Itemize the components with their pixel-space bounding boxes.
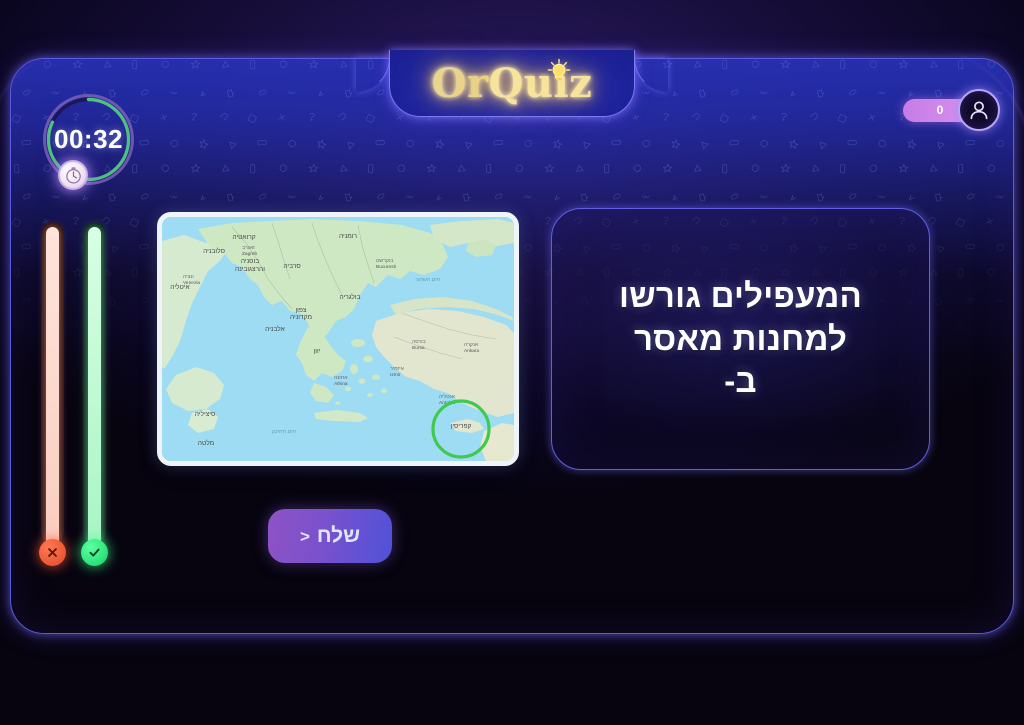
chevron-left-icon: < — [300, 528, 310, 545]
correct-answers-bar — [83, 222, 106, 566]
svg-text:ונציה: ונציה — [183, 274, 194, 280]
svg-text:זאגרב: זאגרב — [242, 245, 255, 251]
countdown-timer: 00:32 — [37, 88, 140, 191]
wrong-bar-fill — [46, 227, 59, 548]
lightbulb-icon — [546, 58, 572, 84]
selected-answer-label: קפריסין — [451, 423, 472, 430]
correct-bar-fill — [88, 227, 101, 548]
answer-progress-rail — [41, 222, 106, 566]
svg-text:סיציליה: סיציליה — [195, 410, 216, 418]
svg-text:מקדוניה: מקדוניה — [290, 314, 312, 321]
question-text: המעפילים גורשו למחנות מאסר ב- — [619, 275, 862, 404]
timer-value: 00:32 — [37, 88, 140, 191]
svg-text:והרצגובינה: והרצגובינה — [235, 266, 265, 273]
wrong-bar-track — [41, 222, 64, 543]
svg-text:בוסניה: בוסניה — [241, 258, 259, 265]
svg-text:Venezia: Venezia — [183, 280, 200, 286]
question-card: המעפילים גורשו למחנות מאסר ב- — [551, 208, 930, 470]
region-map[interactable]: סלובניה קרואטיה בוסניה והרצגובינה סרביה … — [162, 217, 514, 461]
x-mark-icon — [39, 539, 66, 566]
svg-text:הים התיכון: הים התיכון — [271, 429, 297, 435]
correct-bar-track — [83, 222, 106, 543]
question-line-3: ב- — [619, 360, 862, 403]
svg-text:יוון: יוון — [314, 348, 321, 355]
svg-text:איזמיר: איזמיר — [390, 366, 405, 372]
svg-text:Bucuresti: Bucuresti — [376, 264, 396, 270]
svg-text:Bursa: Bursa — [412, 345, 425, 351]
svg-text:Izmir: Izmir — [390, 372, 401, 378]
svg-text:אתונה: אתונה — [334, 375, 348, 381]
svg-text:Zagreb: Zagreb — [242, 251, 258, 257]
svg-text:Ankara: Ankara — [464, 348, 480, 354]
check-mark-icon — [81, 539, 108, 566]
question-line-2: למחנות מאסר — [619, 318, 862, 361]
svg-text:בורסה: בורסה — [412, 339, 426, 345]
svg-text:מלטה: מלטה — [198, 439, 214, 447]
logo-text-quiz: Quiz — [489, 60, 593, 107]
user-avatar-icon[interactable] — [958, 89, 1000, 131]
wrong-answers-bar — [41, 222, 64, 566]
map-answer-area[interactable]: סלובניה קרואטיה בוסניה והרצגובינה סרביה … — [157, 212, 519, 466]
logo-tab: OrQuiz — [390, 50, 634, 116]
svg-text:בוקרשט: בוקרשט — [376, 258, 393, 264]
svg-text:רומניה: רומניה — [339, 233, 357, 240]
svg-text:קרואטיה: קרואטיה — [232, 234, 255, 241]
question-line-1: המעפילים גורשו — [619, 275, 862, 318]
svg-text:Athina: Athina — [334, 381, 348, 387]
svg-text:הים השחור: הים השחור — [415, 277, 441, 283]
quiz-screen: OrQuiz 00:32 — [0, 0, 1024, 725]
submit-button[interactable]: שלח < — [268, 509, 392, 563]
score-display[interactable]: 0 — [903, 90, 1000, 130]
svg-text:בולגריה: בולגריה — [339, 293, 360, 301]
svg-text:אנטליה: אנטליה — [439, 393, 456, 400]
logo-text-or: Or — [432, 60, 489, 107]
svg-text:אלבניה: אלבניה — [265, 325, 285, 333]
svg-text:צפון: צפון — [295, 307, 306, 314]
submit-label: שלח — [317, 524, 360, 548]
stopwatch-icon — [58, 160, 88, 190]
svg-text:סרביה: סרביה — [283, 263, 300, 270]
app-logo: OrQuiz — [390, 64, 634, 104]
svg-text:אנקרה: אנקרה — [464, 342, 479, 348]
svg-text:סלובניה: סלובניה — [203, 247, 225, 255]
